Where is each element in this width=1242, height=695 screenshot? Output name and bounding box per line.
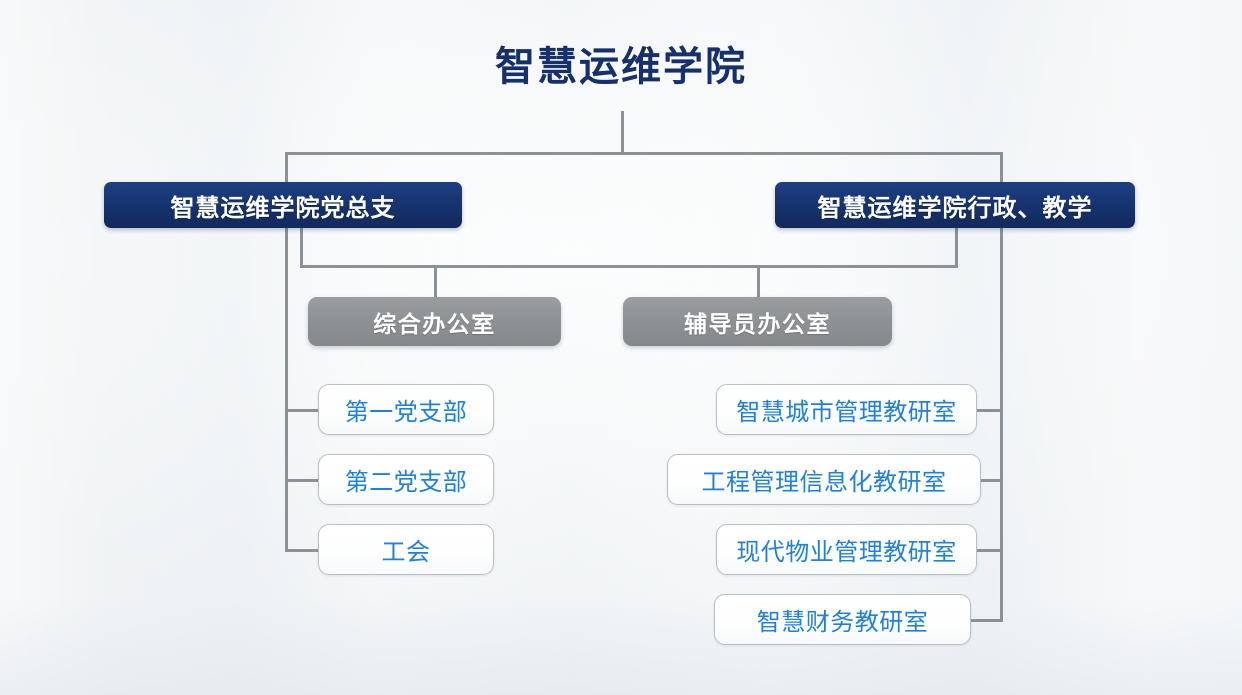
node-party-committee[interactable]: 智慧运维学院党总支: [104, 182, 462, 228]
node-teaching-room-smart-finance[interactable]: 智慧财务教研室: [714, 594, 971, 645]
node-party-branch-2[interactable]: 第二党支部: [318, 454, 494, 505]
node-general-office[interactable]: 综合办公室: [308, 297, 561, 346]
node-administration-teaching[interactable]: 智慧运维学院行政、教学: [775, 182, 1135, 228]
node-labor-union[interactable]: 工会: [318, 524, 494, 575]
node-teaching-room-engineering-informatization[interactable]: 工程管理信息化教研室: [667, 454, 981, 505]
node-party-branch-1[interactable]: 第一党支部: [318, 384, 494, 435]
org-chart-canvas: 智慧运维学院: [0, 0, 1242, 695]
node-teaching-room-modern-property[interactable]: 现代物业管理教研室: [716, 524, 977, 575]
node-layer: 智慧运维学院党总支 智慧运维学院行政、教学 综合办公室 辅导员办公室 第一党支部…: [0, 0, 1242, 695]
node-counselor-office[interactable]: 辅导员办公室: [623, 297, 892, 346]
node-teaching-room-smart-city[interactable]: 智慧城市管理教研室: [716, 384, 977, 435]
